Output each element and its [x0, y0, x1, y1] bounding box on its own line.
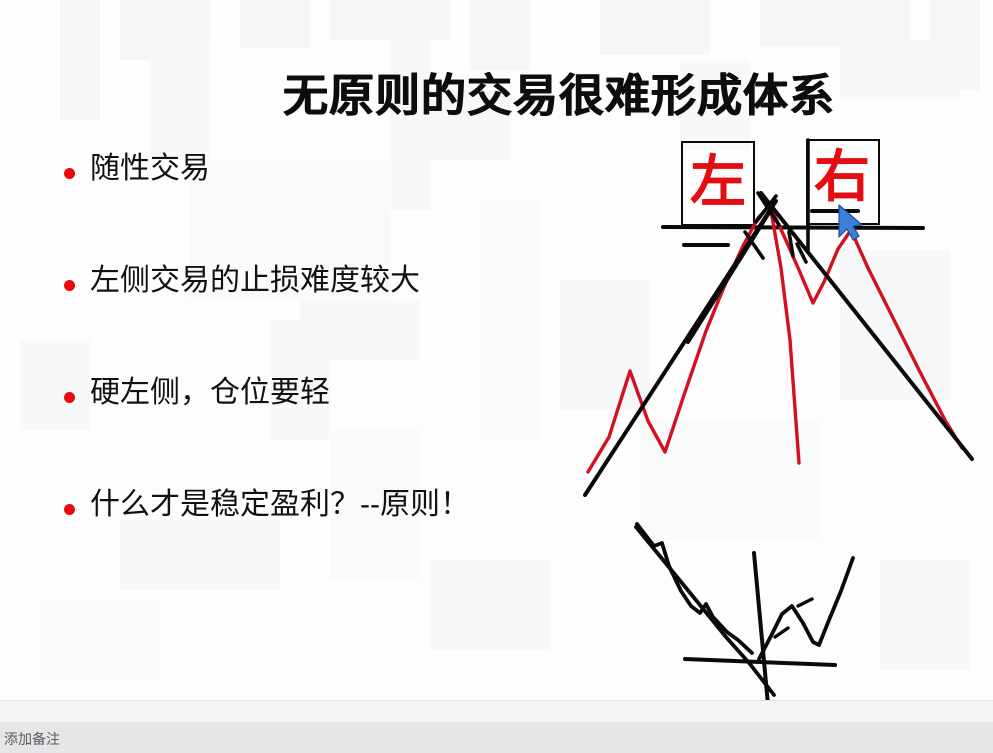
list-item[interactable]: 什么才是稳定盈利？--原则！	[58, 486, 578, 598]
bullet-dot-icon	[64, 504, 75, 515]
bullet-dot-icon	[64, 168, 75, 179]
bullet-text: 随性交易	[90, 152, 210, 185]
right-side-label-text: 右	[814, 150, 870, 206]
notes-pane[interactable]: 添加备注	[0, 722, 993, 753]
slide-canvas[interactable]: 无原则的交易很难形成体系 随性交易 左侧交易的止损难度较大 硬左侧，仓位要轻 什…	[0, 0, 993, 700]
notes-placeholder-text[interactable]: 添加备注	[4, 729, 60, 749]
bullet-text: 左侧交易的止损难度较大	[90, 264, 420, 297]
bullet-list[interactable]: 随性交易 左侧交易的止损难度较大 硬左侧，仓位要轻 什么才是稳定盈利？--原则！	[58, 150, 578, 598]
list-item[interactable]: 左侧交易的止损难度较大	[58, 262, 578, 374]
list-item[interactable]: 随性交易	[58, 150, 578, 262]
bullet-text: 什么才是稳定盈利？--原则！	[90, 488, 470, 521]
notes-pane-divider	[0, 700, 993, 724]
page-title: 无原则的交易很难形成体系	[283, 72, 943, 119]
bullet-dot-icon	[64, 280, 75, 291]
powerpoint-slide-view: 无原则的交易很难形成体系 随性交易 左侧交易的止损难度较大 硬左侧，仓位要轻 什…	[0, 0, 993, 753]
bullet-text: 硬左侧，仓位要轻	[90, 376, 330, 409]
list-item[interactable]: 硬左侧，仓位要轻	[58, 374, 578, 486]
left-side-label-text: 左	[690, 155, 746, 211]
bullet-dot-icon	[64, 392, 75, 403]
